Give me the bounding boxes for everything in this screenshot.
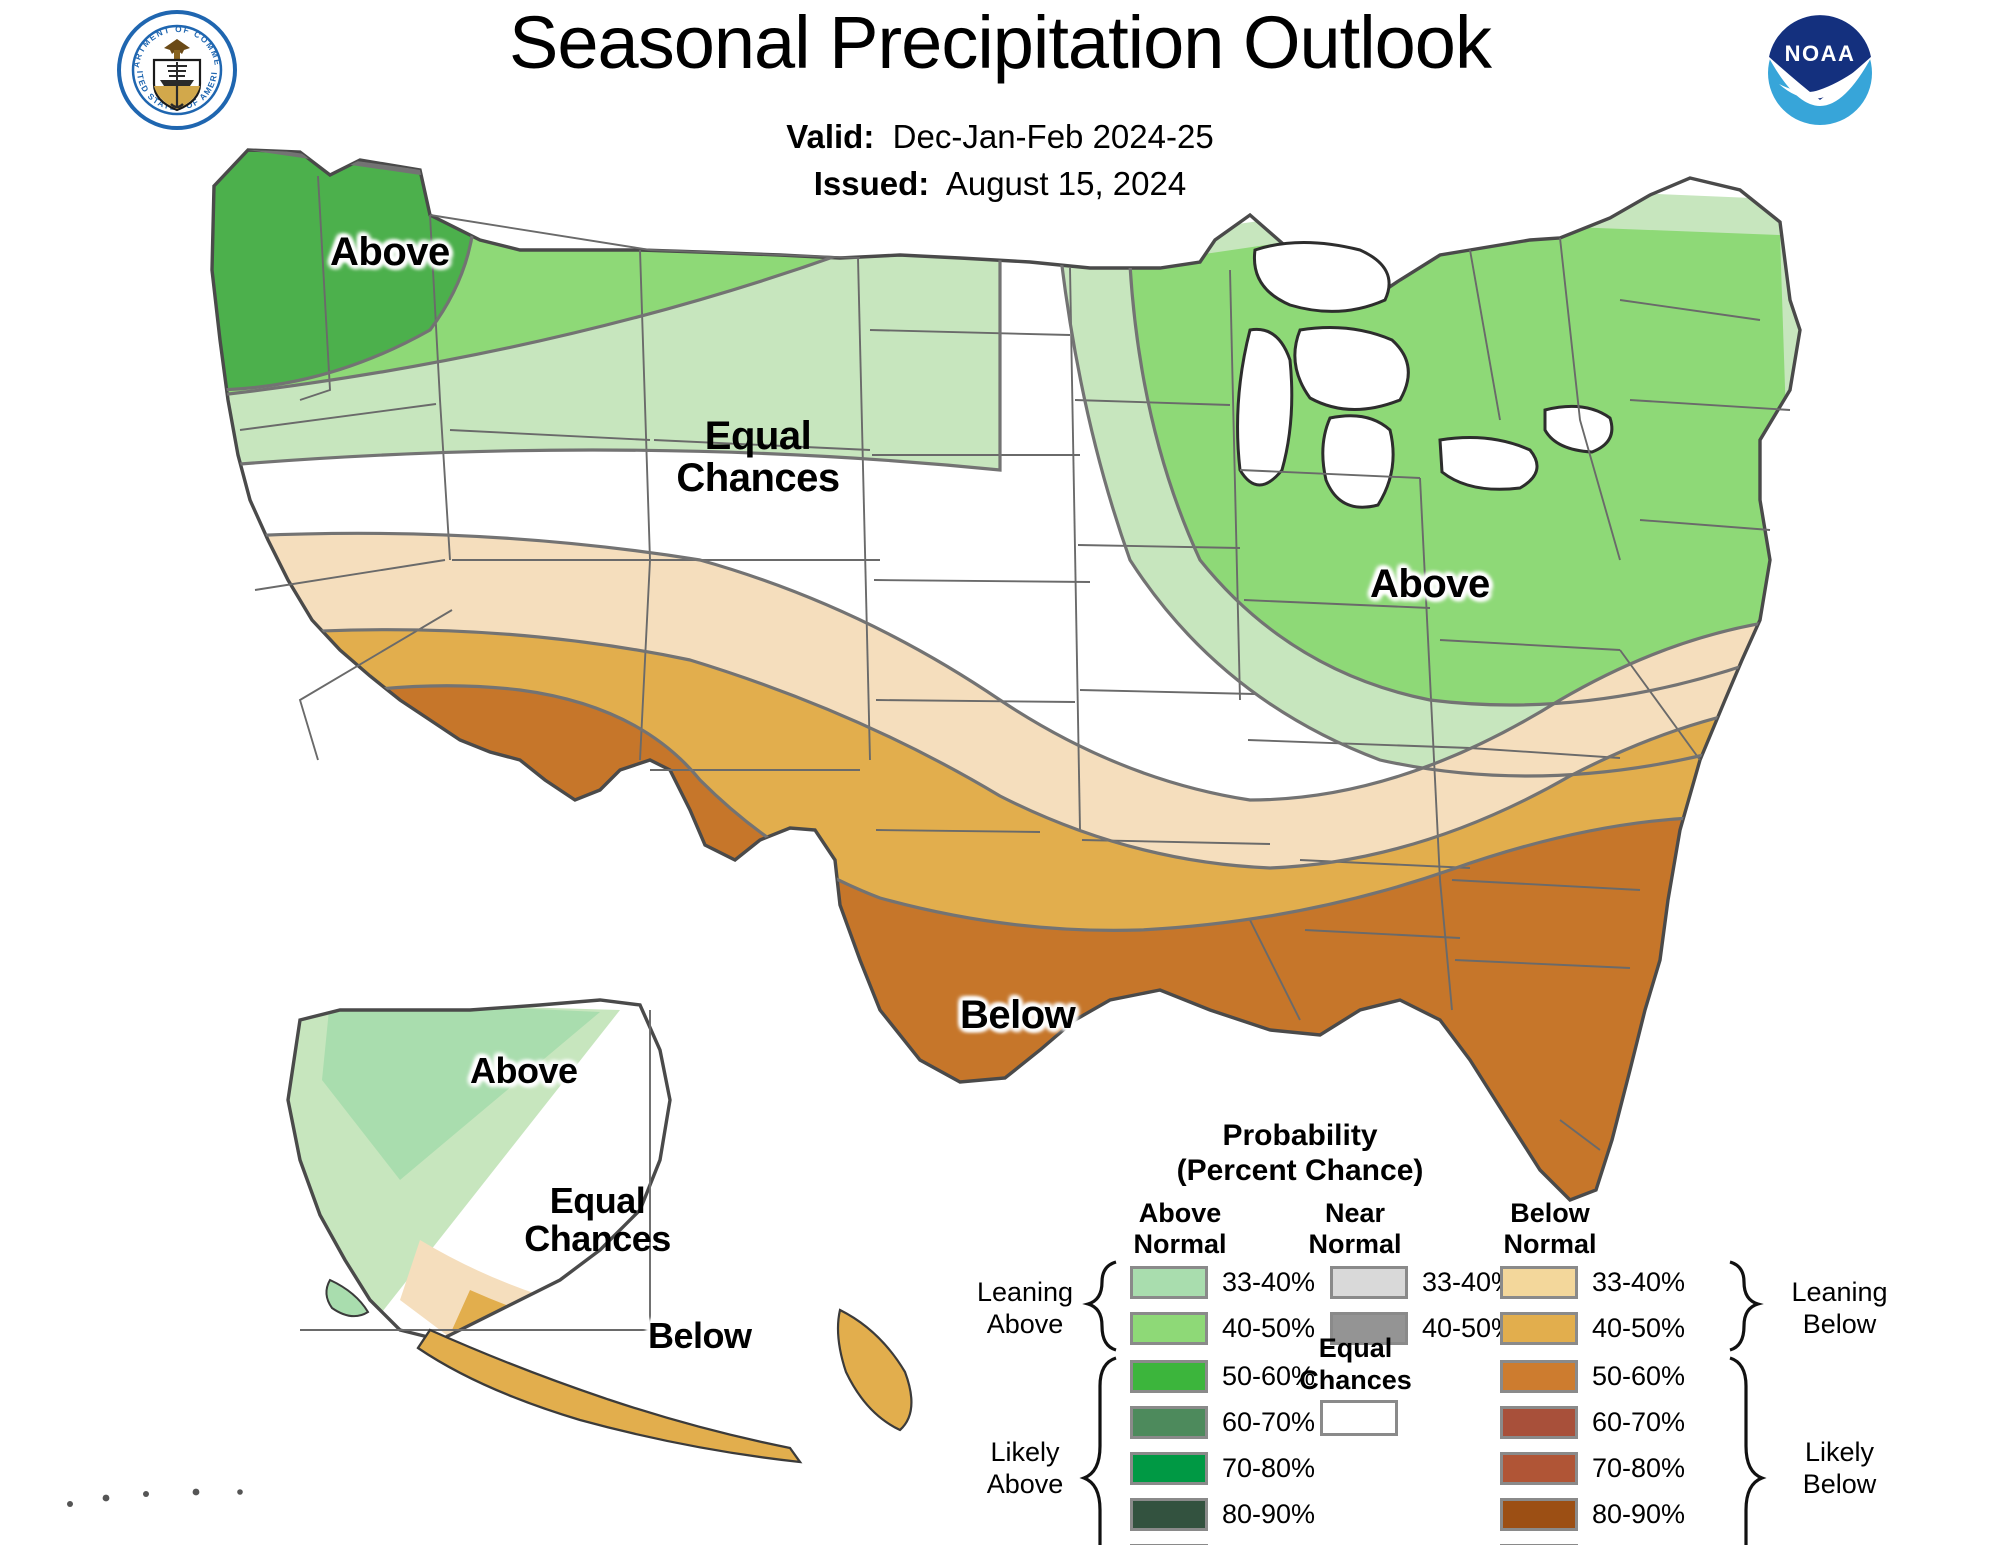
- map-label-northwest-above: Above: [330, 230, 450, 275]
- legend-side-label-likely-above: Likely Above: [940, 1436, 1110, 1501]
- legend-title: Probability (Percent Chance): [1060, 1118, 1540, 1189]
- above-normal-northwest-region: [170, 140, 1000, 470]
- legend-label-below-60-70: 60-70%: [1592, 1406, 1685, 1439]
- legend-label-below-80-90: 80-90%: [1592, 1498, 1685, 1531]
- leaning-above-l2: Above: [940, 1308, 1110, 1340]
- legend-ec-line2: Chances: [1268, 1365, 1443, 1397]
- legend-column-header-near-normal: Near Normal: [1275, 1198, 1435, 1260]
- map-label-central-equal: Equal: [648, 415, 868, 457]
- legend-label-above-70-80: 70-80%: [1222, 1452, 1315, 1485]
- legend-equal-chances-label: Equal Chances: [1268, 1333, 1443, 1397]
- legend-above-head2: Normal: [1100, 1229, 1260, 1260]
- map-label-central-chances: Chances: [648, 457, 868, 499]
- map-label-alaska-below: Below: [648, 1315, 752, 1357]
- legend-label-below-70-80: 70-80%: [1592, 1452, 1685, 1485]
- legend-below-head1: Below: [1470, 1198, 1630, 1229]
- legend-swatch-above-33-40: [1130, 1266, 1208, 1299]
- legend-swatch-below-80-90: [1500, 1498, 1578, 1531]
- legend-swatch-above-40-50: [1130, 1312, 1208, 1345]
- likely-above-l1: Likely: [940, 1436, 1110, 1468]
- legend-swatch-below-40-50: [1500, 1312, 1578, 1345]
- legend-label-below-33-40: 33-40%: [1592, 1266, 1685, 1299]
- legend-below-head2: Normal: [1470, 1229, 1630, 1260]
- likely-above-l2: Above: [940, 1468, 1110, 1500]
- legend-swatch-below-60-70: [1500, 1406, 1578, 1439]
- legend-above-head1: Above: [1100, 1198, 1260, 1229]
- legend-swatch-above-50-60: [1130, 1360, 1208, 1393]
- leaning-above-l1: Leaning: [940, 1276, 1110, 1308]
- map-label-alaska-equal-chances: Equal Chances: [485, 1182, 710, 1258]
- legend-side-label-leaning-above: Leaning Above: [940, 1276, 1110, 1341]
- leaning-below-l2: Below: [1752, 1308, 1927, 1340]
- legend-swatch-above-70-80: [1130, 1452, 1208, 1485]
- legend-ec-line1: Equal: [1268, 1333, 1443, 1365]
- legend-label-above-80-90: 80-90%: [1222, 1498, 1315, 1531]
- legend-near-head2: Normal: [1275, 1229, 1435, 1260]
- legend-swatch-near-33-40: [1330, 1266, 1408, 1299]
- legend-swatch-below-70-80: [1500, 1452, 1578, 1485]
- legend-label-below-40-50: 40-50%: [1592, 1312, 1685, 1345]
- map-label-south-below: Below: [960, 993, 1075, 1038]
- legend-swatch-below-50-60: [1500, 1360, 1578, 1393]
- legend-swatch-above-60-70: [1130, 1406, 1208, 1439]
- legend-title-line2: (Percent Chance): [1060, 1153, 1540, 1188]
- map-label-greatlakes-above: Above: [1370, 562, 1490, 607]
- likely-below-l2: Below: [1752, 1468, 1927, 1500]
- legend-swatch-below-33-40: [1500, 1266, 1578, 1299]
- legend-column-header-below-normal: Below Normal: [1470, 1198, 1630, 1260]
- probability-legend: Probability (Percent Chance) Above Norma…: [930, 1118, 1930, 1538]
- likely-below-l1: Likely: [1752, 1436, 1927, 1468]
- map-label-alaska-chances: Chances: [485, 1220, 710, 1258]
- seasonal-precipitation-outlook-page: DEPARTMENT OF COMMERCE UNITED STATES OF …: [0, 0, 2000, 1545]
- legend-column-header-above-normal: Above Normal: [1100, 1198, 1260, 1260]
- legend-swatch-above-80-90: [1130, 1498, 1208, 1531]
- legend-side-label-likely-below: Likely Below: [1752, 1436, 1927, 1501]
- legend-label-above-60-70: 60-70%: [1222, 1406, 1315, 1439]
- legend-near-head1: Near: [1275, 1198, 1435, 1229]
- legend-label-above-33-40: 33-40%: [1222, 1266, 1315, 1299]
- legend-label-below-50-60: 50-60%: [1592, 1360, 1685, 1393]
- map-label-alaska-equal: Equal: [485, 1182, 710, 1220]
- map-label-central-equal-chances: Equal Chances: [648, 415, 868, 500]
- legend-side-label-leaning-below: Leaning Below: [1752, 1276, 1927, 1341]
- leaning-below-l1: Leaning: [1752, 1276, 1927, 1308]
- legend-title-line1: Probability: [1060, 1118, 1540, 1153]
- legend-swatch-equal-chances: [1320, 1400, 1398, 1436]
- map-label-alaska-above: Above: [470, 1050, 578, 1092]
